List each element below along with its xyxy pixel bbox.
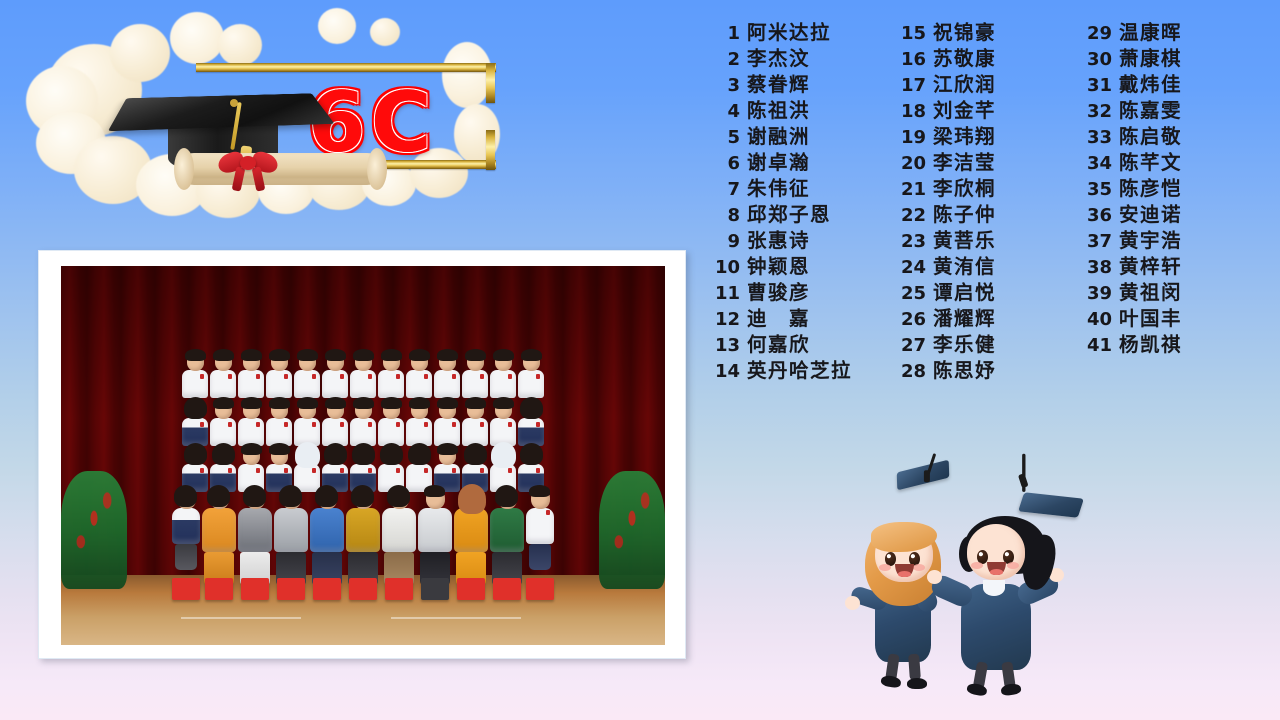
student-figure: [294, 400, 320, 446]
scroll-paper: [178, 153, 383, 185]
name-text: 朱伟征: [747, 176, 810, 202]
photo-row-front-teachers: [61, 488, 665, 586]
name-text: 江欣润: [933, 72, 996, 98]
name-entry: 35陈彦恺: [1072, 176, 1258, 202]
name-number: 23: [886, 229, 933, 255]
name-entry: 36安迪诺: [1072, 202, 1258, 228]
name-number: 29: [1072, 21, 1119, 47]
name-number: 5: [700, 125, 747, 151]
collar: [983, 580, 1005, 596]
student-figure: [238, 352, 264, 398]
name-number: 28: [886, 359, 933, 385]
name-entry: 4陈祖洪: [700, 98, 886, 124]
student-figure: [462, 352, 488, 398]
name-text: 张惠诗: [747, 228, 810, 254]
name-entry: 21李欣桐: [886, 176, 1072, 202]
name-text: 梁玮翔: [933, 124, 996, 150]
student-figure: [378, 400, 404, 446]
name-number: 30: [1072, 47, 1119, 73]
name-number: 38: [1072, 255, 1119, 281]
cap-tassel: [1022, 454, 1025, 492]
header-banner: 6C: [18, 8, 538, 223]
name-text: 蔡眷辉: [747, 72, 810, 98]
name-number: 17: [886, 73, 933, 99]
student-figure: [294, 446, 320, 492]
teacher-figure: [274, 488, 308, 586]
shoe-right: [907, 678, 927, 689]
name-text: 邱郑子恩: [747, 202, 831, 228]
teacher-figure: [382, 488, 416, 586]
shoe-left: [880, 674, 902, 688]
name-number: 11: [700, 281, 747, 307]
name-entry: 17江欣润: [886, 72, 1072, 98]
cloud-shape: [318, 8, 356, 44]
name-entry: 1阿米达拉: [700, 20, 886, 46]
name-number: 14: [700, 359, 747, 385]
name-entry: 11曹骏彦: [700, 280, 886, 306]
name-text: 陈子仲: [933, 202, 996, 228]
shoe-left: [966, 682, 988, 697]
blush-left: [879, 564, 891, 571]
name-text: 杨凯祺: [1119, 332, 1182, 358]
student-name-list: 1阿米达拉 2李杰汶 3蔡眷辉 4陈祖洪 5谢融洲 6谢卓瀚 7朱伟征 8邱郑子…: [700, 20, 1260, 420]
student-figure: [182, 352, 208, 398]
name-text: 苏敬康: [933, 46, 996, 72]
name-entry: 12迪 嘉: [700, 306, 886, 332]
name-entry: 30萧康棋: [1072, 46, 1258, 72]
name-number: 6: [700, 151, 747, 177]
name-entry: 3蔡眷辉: [700, 72, 886, 98]
name-number: 41: [1072, 333, 1119, 359]
name-number: 1: [700, 21, 747, 47]
student-figure: [210, 352, 236, 398]
name-text: 戴炜佳: [1119, 72, 1182, 98]
name-entry: 38黄梓轩: [1072, 254, 1258, 280]
name-entry: 6谢卓瀚: [700, 150, 886, 176]
name-number: 39: [1072, 281, 1119, 307]
ribbon-knot: [240, 156, 256, 170]
name-text: 李欣桐: [933, 176, 996, 202]
name-entry: 23黄菩乐: [886, 228, 1072, 254]
name-number: 32: [1072, 99, 1119, 125]
name-number: 40: [1072, 307, 1119, 333]
name-number: 37: [1072, 229, 1119, 255]
student-figure: [490, 400, 516, 446]
name-number: 16: [886, 47, 933, 73]
floor-marking: [391, 617, 521, 619]
name-number: 2: [700, 47, 747, 73]
name-number: 3: [700, 73, 747, 99]
student-figure: [434, 400, 460, 446]
name-text: 黄宇浩: [1119, 228, 1182, 254]
name-entry: 10钟颖恩: [700, 254, 886, 280]
name-text: 谢融洲: [747, 124, 810, 150]
name-text: 陈思妤: [933, 358, 996, 384]
diploma-scroll-icon: [178, 148, 383, 192]
name-text: 黄菩乐: [933, 228, 996, 254]
hand-left: [927, 570, 942, 584]
floor-marking: [181, 617, 301, 619]
name-entry: 7朱伟征: [700, 176, 886, 202]
student-figure: [406, 400, 432, 446]
name-text: 刘金芊: [933, 98, 996, 124]
teacher-figure: [454, 488, 488, 586]
name-number: 22: [886, 203, 933, 229]
name-entry: 34陈芊文: [1072, 150, 1258, 176]
name-text: 谭启悦: [933, 280, 996, 306]
name-number: 31: [1072, 73, 1119, 99]
name-entry: 32陈嘉雯: [1072, 98, 1258, 124]
name-entry: 5谢融洲: [700, 124, 886, 150]
teacher-figure: [238, 488, 272, 586]
name-text: 谢卓瀚: [747, 150, 810, 176]
name-entry: 15祝锦豪: [886, 20, 1072, 46]
name-entry: 24黄洧信: [886, 254, 1072, 280]
name-number: 19: [886, 125, 933, 151]
photo-row-second: [61, 400, 665, 446]
name-number: 35: [1072, 177, 1119, 203]
student-figure: [526, 488, 554, 586]
name-text: 潘耀辉: [933, 306, 996, 332]
name-entry: 27李乐健: [886, 332, 1072, 358]
name-text: 迪 嘉: [747, 306, 810, 332]
name-text: 李乐健: [933, 332, 996, 358]
name-number: 7: [700, 177, 747, 203]
blush-left: [971, 562, 983, 569]
student-figure: [490, 352, 516, 398]
teacher-figure: [310, 488, 344, 586]
student-figure: [266, 352, 292, 398]
name-number: 33: [1072, 125, 1119, 151]
student-figure: [238, 400, 264, 446]
name-entry: 40叶国丰: [1072, 306, 1258, 332]
name-entry: 18刘金芊: [886, 98, 1072, 124]
blush-right: [913, 564, 925, 571]
cloud-shape: [370, 18, 400, 46]
student-figure: [406, 352, 432, 398]
name-entry: 22陈子仲: [886, 202, 1072, 228]
name-text: 陈芊文: [1119, 150, 1182, 176]
name-column-3: 29温康晖 30萧康棋 31戴炜佳 32陈嘉雯 33陈启敬 34陈芊文 35陈彦…: [1072, 20, 1258, 420]
name-text: 陈启敬: [1119, 124, 1182, 150]
name-number: 4: [700, 99, 747, 125]
name-text: 温康晖: [1119, 20, 1182, 46]
name-text: 何嘉欣: [747, 332, 810, 358]
name-entry: 39黄祖闵: [1072, 280, 1258, 306]
cap-board: [108, 93, 335, 131]
student-figure: [322, 352, 348, 398]
name-number: 27: [886, 333, 933, 359]
student-figure: [518, 400, 544, 446]
name-number: 24: [886, 255, 933, 281]
name-entry: 9张惠诗: [700, 228, 886, 254]
leg-right: [908, 654, 921, 681]
class-photo-frame: [38, 250, 686, 659]
student-figure: [294, 352, 320, 398]
name-text: 祝锦豪: [933, 20, 996, 46]
name-number: 21: [886, 177, 933, 203]
name-text: 陈彦恺: [1119, 176, 1182, 202]
name-entry: 16苏敬康: [886, 46, 1072, 72]
name-number: 34: [1072, 151, 1119, 177]
student-figure: [434, 352, 460, 398]
name-entry: 2李杰汶: [700, 46, 886, 72]
name-number: 9: [700, 229, 747, 255]
name-entry: 14英丹哈芝拉: [700, 358, 886, 384]
name-number: 8: [700, 203, 747, 229]
student-figure: [350, 400, 376, 446]
name-text: 李洁莹: [933, 150, 996, 176]
name-text: 陈嘉雯: [1119, 98, 1182, 124]
name-text: 钟颖恩: [747, 254, 810, 280]
name-text: 叶国丰: [1119, 306, 1182, 332]
graduate-boy: [937, 506, 1067, 666]
name-number: 10: [700, 255, 747, 281]
class-group-photo: [61, 266, 665, 645]
name-entry: 33陈启敬: [1072, 124, 1258, 150]
student-figure: [378, 352, 404, 398]
name-entry: 20李洁莹: [886, 150, 1072, 176]
name-number: 26: [886, 307, 933, 333]
name-number: 25: [886, 281, 933, 307]
name-number: 36: [1072, 203, 1119, 229]
name-entry: 25谭启悦: [886, 280, 1072, 306]
name-number: 12: [700, 307, 747, 333]
teacher-figure: [418, 488, 452, 586]
photo-row-back: [61, 352, 665, 398]
name-text: 黄祖闵: [1119, 280, 1182, 306]
blush-right: [1007, 562, 1019, 569]
name-entry: 29温康晖: [1072, 20, 1258, 46]
student-figure: [322, 400, 348, 446]
scroll-end-left: [174, 148, 194, 190]
name-column-2: 15祝锦豪 16苏敬康 17江欣润 18刘金芊 19梁玮翔 20李洁莹 21李欣…: [886, 20, 1072, 420]
name-entry: 26潘耀辉: [886, 306, 1072, 332]
name-entry: 41杨凯祺: [1072, 332, 1258, 358]
name-text: 黄洧信: [933, 254, 996, 280]
cloud-shape: [218, 24, 262, 66]
name-text: 安迪诺: [1119, 202, 1182, 228]
hand-left: [845, 596, 860, 610]
student-figure: [182, 400, 208, 446]
student-figure: [172, 488, 200, 586]
name-entry: 19梁玮翔: [886, 124, 1072, 150]
name-text: 萧康棋: [1119, 46, 1182, 72]
name-number: 13: [700, 333, 747, 359]
teacher-figure: [490, 488, 524, 586]
graduates-illustration: [845, 440, 1095, 680]
name-text: 李杰汶: [747, 46, 810, 72]
teacher-figure: [346, 488, 380, 586]
cloud-shape: [170, 12, 224, 64]
name-entry: 28陈思妤: [886, 358, 1072, 384]
student-figure: [210, 400, 236, 446]
name-number: 15: [886, 21, 933, 47]
name-text: 陈祖洪: [747, 98, 810, 124]
name-entry: 13何嘉欣: [700, 332, 886, 358]
name-number: 20: [886, 151, 933, 177]
name-number: 18: [886, 99, 933, 125]
student-figure: [462, 400, 488, 446]
student-figure: [350, 352, 376, 398]
name-entry: 37黄宇浩: [1072, 228, 1258, 254]
name-text: 阿米达拉: [747, 20, 831, 46]
student-figure: [518, 352, 544, 398]
name-entry: 8邱郑子恩: [700, 202, 886, 228]
name-text: 英丹哈芝拉: [747, 358, 852, 384]
tossed-cap-left: [896, 459, 950, 490]
name-text: 曹骏彦: [747, 280, 810, 306]
teacher-figure: [202, 488, 236, 586]
name-entry: 31戴炜佳: [1072, 72, 1258, 98]
name-column-1: 1阿米达拉 2李杰汶 3蔡眷辉 4陈祖洪 5谢融洲 6谢卓瀚 7朱伟征 8邱郑子…: [700, 20, 886, 420]
scroll-end-right: [367, 148, 387, 190]
name-text: 黄梓轩: [1119, 254, 1182, 280]
student-figure: [266, 400, 292, 446]
